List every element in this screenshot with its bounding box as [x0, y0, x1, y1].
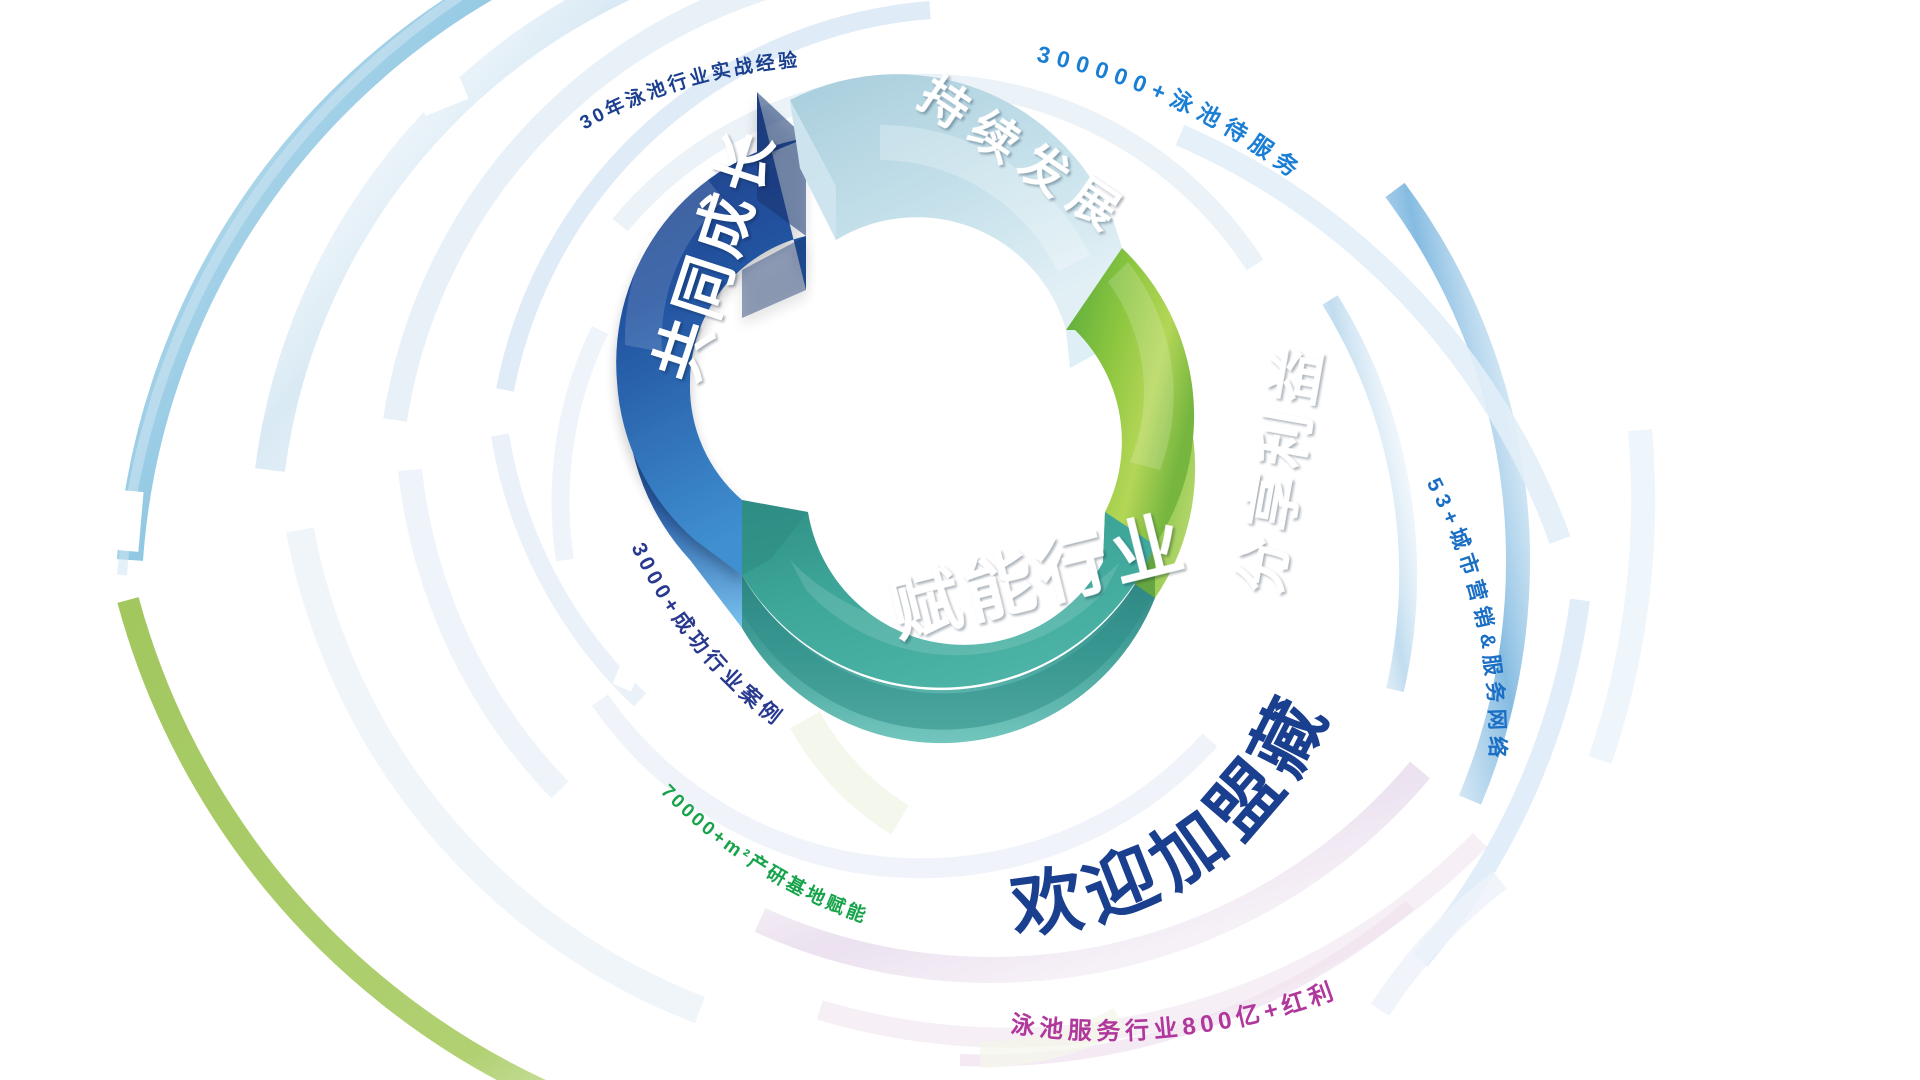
- poster-canvas: 共同成长 持续发展 分享利益 赋能行业 30年泳池行业实战经验 300000+泳…: [0, 0, 1920, 1080]
- poster-artwork: 共同成长 持续发展 分享利益 赋能行业 30年泳池行业实战经验 300000+泳…: [0, 0, 1920, 1080]
